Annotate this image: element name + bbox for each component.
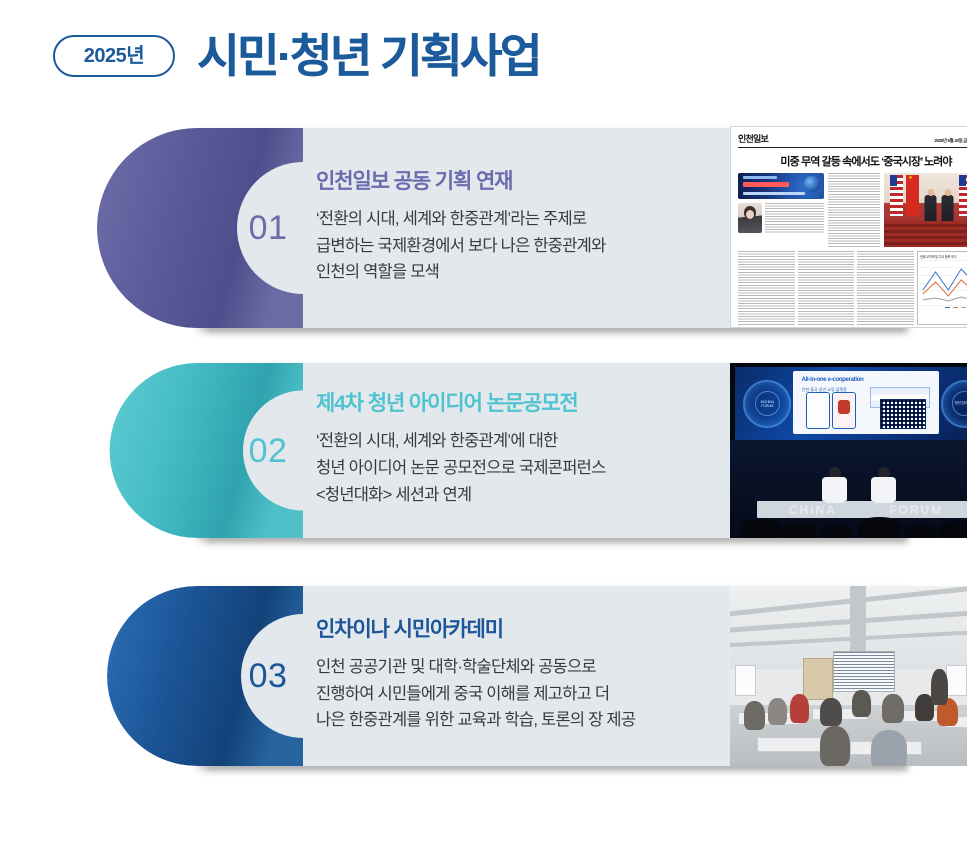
card-content: 인천일보 공동 기획 연재 ‘전환의 시대, 세계와 한중관계’라는 주제로 급… <box>316 128 625 328</box>
card-body: ‘전환의 시대, 세계와 한중관계’라는 주제로 급변하는 국제환경에서 보다 … <box>316 206 625 286</box>
card-body: 인천 공공기관 및 대학·학술단체와 공동으로 진행하여 시민들에게 중국 이해… <box>316 654 655 734</box>
newspaper-clipping-image: 인천일보 2025년 6월 20일 금요일 008면 종합 미중 무역 갈등 속… <box>730 126 967 328</box>
year-badge-label: 2025년 <box>84 46 144 66</box>
speaker-person <box>871 467 895 500</box>
phone-mockup-left <box>806 392 830 428</box>
year-badge: 2025년 <box>53 35 175 77</box>
card-content: 제4차 청년 아이디어 논문공모전 ‘전환의 시대, 세계와 한중관계’에 대한… <box>316 363 625 538</box>
newspaper-header: 인천일보 2025년 6월 20일 금요일 008면 종합 <box>738 132 967 148</box>
card-content: 인차이나 시민아카데미 인천 공공기관 및 대학·학술단체와 공동으로 진행하여… <box>316 586 655 766</box>
stage-area: CHINA FORUM <box>730 440 967 538</box>
newspaper-dateline: 2025년 6월 20일 금요일 008면 종합 <box>934 138 967 144</box>
newspaper-headline: 미중 무역 갈등 속에서도 ‘중국시장’ 노려야 <box>738 153 967 169</box>
card-number: 02 <box>231 434 305 468</box>
program-card-02: 02 제4차 청년 아이디어 논문공모전 ‘전환의 시대, 세계와 한중관계’에… <box>97 363 905 538</box>
presentation-slide: All-in-one e-cooperation 인천-중국 청년 교류 플랫폼 <box>793 371 939 434</box>
newspaper-series-banner <box>738 173 824 199</box>
card-number: 01 <box>231 211 305 245</box>
program-card-01: 01 인천일보 공동 기획 연재 ‘전환의 시대, 세계와 한중관계’라는 주제… <box>97 128 905 328</box>
ring-left-label: INCHINA FORUM <box>755 391 780 416</box>
newspaper-trend-chart: 한중 교역액 및 주요 품목 추이 <box>917 251 967 325</box>
speaker-person <box>822 467 846 500</box>
qr-code-icon <box>880 399 926 429</box>
poster-board <box>803 658 832 700</box>
card-body-line: 나은 한중관계를 위한 교육과 학습, 토론의 장 제공 <box>316 707 655 734</box>
summit-handshake-photo <box>884 173 967 247</box>
ring-right-label: 청년 참여 안내 <box>952 391 967 416</box>
card-number: 03 <box>231 659 305 693</box>
card-body-line: ‘전환의 시대, 세계와 한중관계’라는 주제로 <box>316 206 625 233</box>
screen-ring-left-icon: INCHINA FORUM <box>743 380 791 428</box>
program-card-03: 03 인차이나 시민아카데미 인천 공공기관 및 대학·학술단체와 공동으로 진… <box>97 586 905 766</box>
card-body-line: 진행하여 시민들에게 중국 이해를 제고하고 더 <box>316 681 655 708</box>
card-body-line: <청년대화> 세션과 연계 <box>316 482 625 509</box>
newspaper-masthead: 인천일보 <box>738 132 768 145</box>
projection-screen <box>833 651 895 693</box>
lecture-hall-image <box>730 586 967 766</box>
card-title: 인차이나 시민아카데미 <box>316 618 655 641</box>
card-body-line: 인천 공공기관 및 대학·학술단체와 공동으로 <box>316 654 655 681</box>
audience-silhouettes <box>730 505 967 538</box>
screen-ring-right-icon: 청년 참여 안내 <box>941 380 967 428</box>
slide-title: All-in-one e-cooperation <box>802 377 864 383</box>
page-title: 시민·청년 기획사업 <box>197 33 540 79</box>
card-body-line: ‘전환의 시대, 세계와 한중관계’에 대한 <box>316 428 625 455</box>
newspaper-chart-caption: 한중 교역액 및 주요 품목 추이 <box>920 254 967 259</box>
card-body-line: 급변하는 국제환경에서 보다 나은 한중관계와 <box>316 233 625 260</box>
card-title: 제4차 청년 아이디어 논문공모전 <box>316 392 625 415</box>
stage-led-screen: INCHINA FORUM 청년 참여 안내 All-in-one e-coop… <box>735 367 967 441</box>
card-body-line: 청년 아이디어 논문 공모전으로 국제콘퍼런스 <box>316 455 625 482</box>
card-title: 인천일보 공동 기획 연재 <box>316 170 625 193</box>
card-body: ‘전환의 시대, 세계와 한중관계’에 대한 청년 아이디어 논문 공모전으로 … <box>316 428 625 508</box>
page-header: 2025년 시민·청년 기획사업 <box>0 0 967 112</box>
author-portrait <box>738 203 762 233</box>
phone-mockup-right <box>832 392 856 428</box>
card-body-line: 인천의 역할을 모색 <box>316 259 625 286</box>
conference-stage-image: INCHINA FORUM 청년 참여 안내 All-in-one e-coop… <box>730 363 967 538</box>
